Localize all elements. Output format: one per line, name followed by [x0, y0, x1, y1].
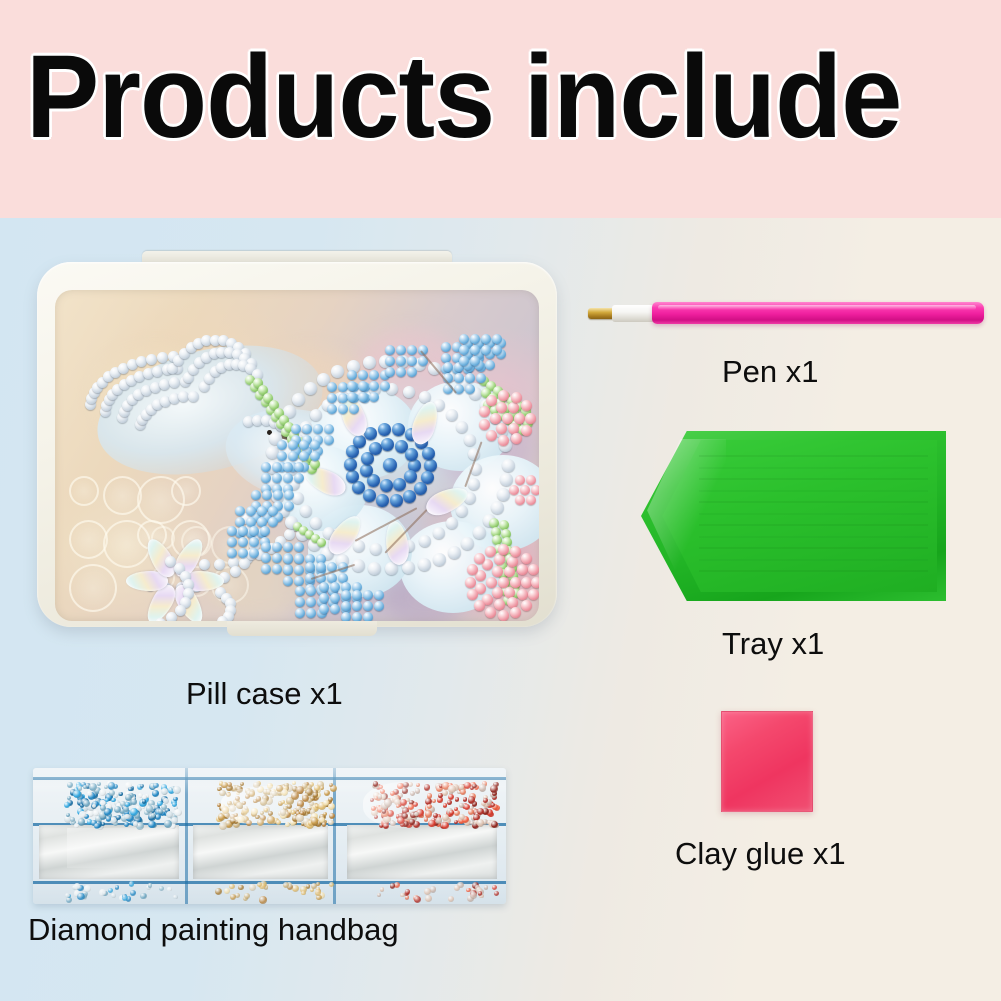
pill-case-bottom-tab	[227, 621, 377, 636]
handbag-foil-panel	[347, 825, 497, 879]
handbag-bottom-seam	[33, 881, 506, 884]
tray-groove	[699, 570, 928, 572]
handbag-sheen	[67, 828, 197, 868]
clay-glue-square	[721, 711, 813, 812]
clay-glue-label: Clay glue x1	[675, 836, 846, 872]
header-band: Products include	[0, 0, 1001, 218]
handbag-product	[33, 768, 506, 904]
pen-barrel	[652, 302, 984, 324]
pen-metal-tip	[588, 308, 614, 319]
pill-case-body	[37, 262, 557, 627]
clay-glue-product	[721, 711, 813, 812]
tray-groove	[699, 501, 928, 503]
tray-groove	[699, 559, 928, 561]
handbag-foil-panel	[193, 825, 328, 879]
pill-case-label: Pill case x1	[186, 676, 343, 712]
tray-label: Tray x1	[722, 626, 824, 662]
page-title: Products include	[26, 38, 919, 156]
handbag-sheen	[221, 786, 341, 826]
tray-groove	[699, 513, 928, 515]
handbag-label: Diamond painting handbag	[28, 912, 399, 948]
handbag-sheen	[363, 782, 453, 828]
pen-product	[588, 297, 984, 331]
tray-groove	[699, 478, 928, 480]
tray-groove	[699, 524, 928, 526]
tray-groove	[699, 467, 928, 469]
pen-label: Pen x1	[722, 354, 819, 390]
product-contents-image: Products include Pill case x1 Pen x1 Tra…	[0, 0, 1001, 1001]
handbag-zip-bag	[33, 768, 506, 904]
tray-groove	[699, 490, 928, 492]
pill-case-product	[37, 251, 557, 638]
tray-groove	[699, 455, 928, 457]
tray-product	[641, 431, 946, 601]
tray-groove	[699, 536, 928, 538]
tray-groove	[699, 547, 928, 549]
pen-ferrule	[612, 305, 656, 322]
pill-case-artwork	[55, 290, 539, 621]
